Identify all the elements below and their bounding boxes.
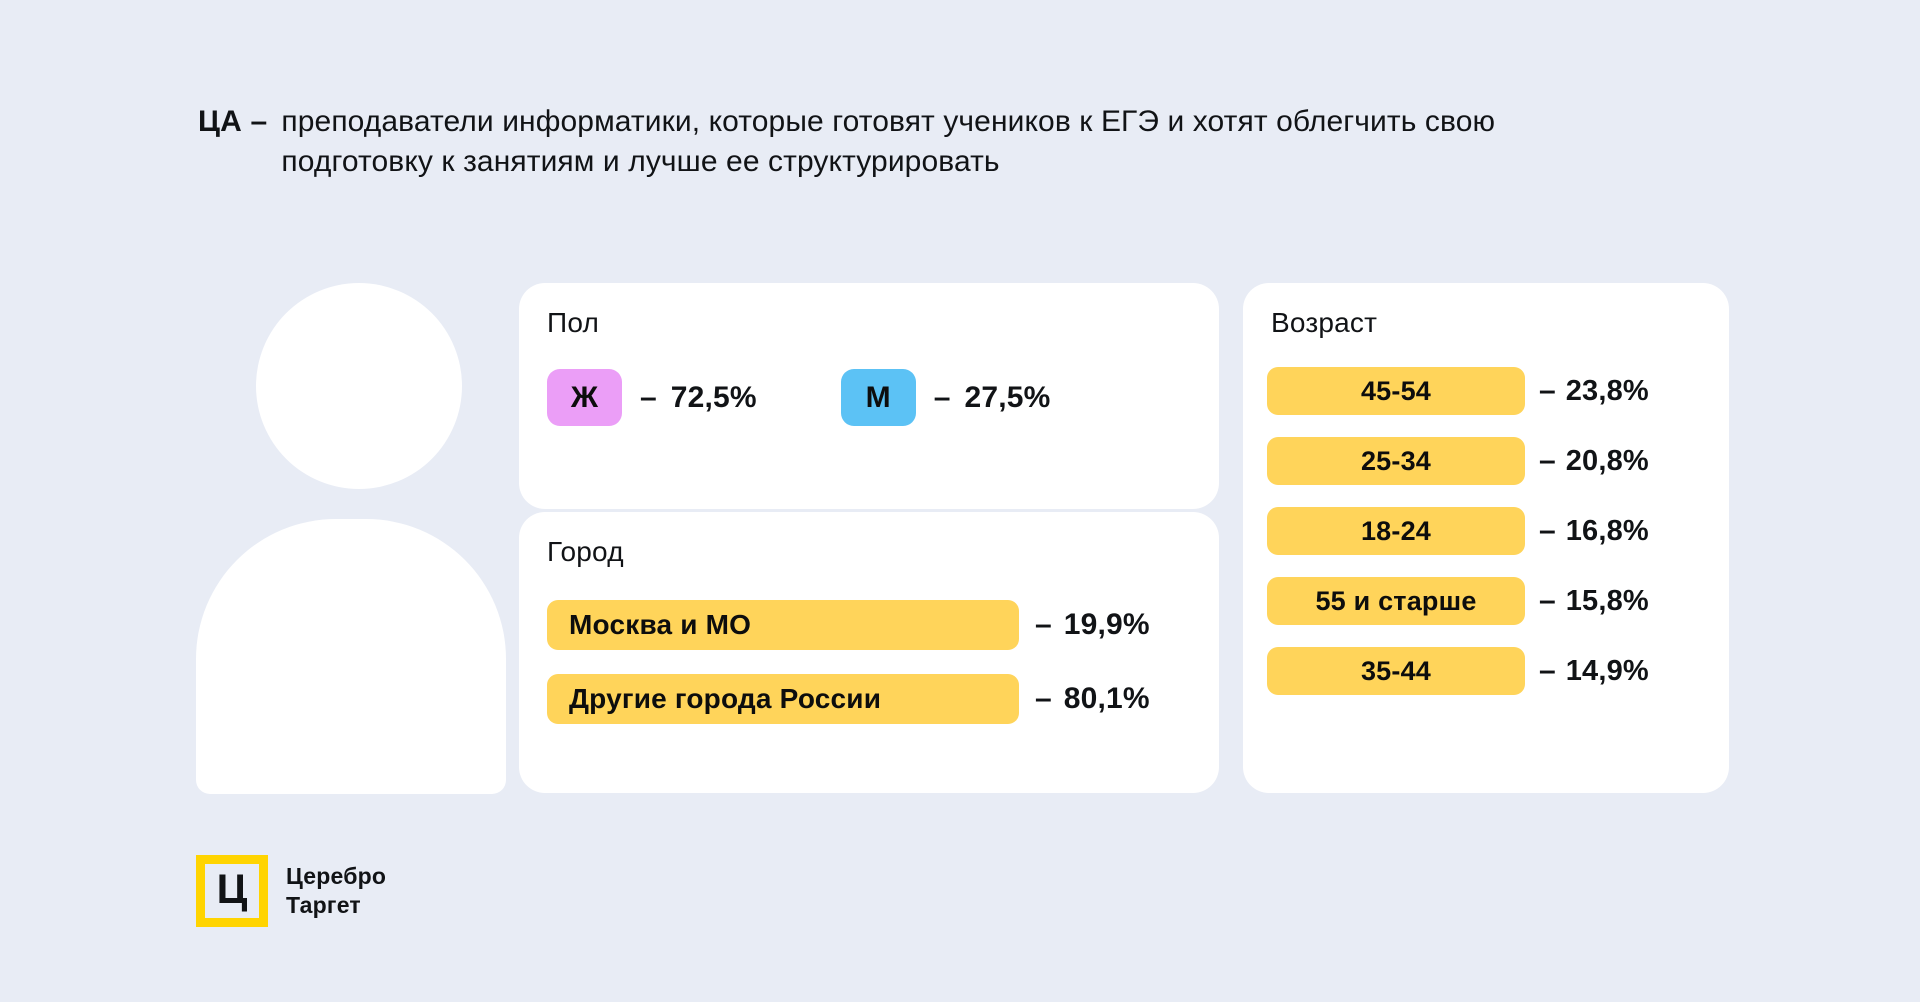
city-dash: –: [1019, 682, 1064, 716]
age-row: 45-54 – 23,8%: [1267, 367, 1649, 415]
age-dash: –: [1525, 374, 1566, 408]
age-badge: 25-34: [1267, 437, 1525, 485]
logo-frame-icon: Ц: [196, 855, 268, 927]
person-head-shape: [256, 283, 462, 489]
city-dash: –: [1019, 608, 1064, 642]
age-dash: –: [1525, 584, 1566, 618]
age-badge: 55 и старше: [1267, 577, 1525, 625]
city-badge: Москва и МО: [547, 600, 1019, 650]
age-value: 20,8%: [1566, 445, 1649, 478]
city-rows: Москва и МО – 19,9% Другие города России…: [547, 600, 1150, 724]
age-row: 25-34 – 20,8%: [1267, 437, 1649, 485]
person-silhouette-icon: [196, 283, 506, 793]
city-value: 80,1%: [1064, 682, 1150, 716]
age-row: 18-24 – 16,8%: [1267, 507, 1649, 555]
gender-value-female: 72,5%: [671, 381, 757, 415]
gender-rows: Ж – 72,5% М – 27,5%: [547, 369, 1051, 426]
age-value: 23,8%: [1566, 375, 1649, 408]
gender-card-title: Пол: [547, 307, 599, 339]
age-badge: 18-24: [1267, 507, 1525, 555]
age-card: Возраст 45-54 – 23,8% 25-34 – 20,8% 18-2…: [1243, 283, 1729, 793]
page-title: ЦА – преподаватели информатики, которые …: [198, 102, 1571, 182]
age-card-title: Возраст: [1271, 307, 1377, 339]
age-dash: –: [1525, 444, 1566, 478]
age-value: 15,8%: [1566, 585, 1649, 618]
gender-row-female: Ж – 72,5%: [547, 369, 757, 426]
gender-row-male: М – 27,5%: [841, 369, 1051, 426]
city-value: 19,9%: [1064, 608, 1150, 642]
age-row: 35-44 – 14,9%: [1267, 647, 1649, 695]
logo-text-line1: Церебро: [286, 862, 386, 891]
city-row: Другие города России – 80,1%: [547, 674, 1150, 724]
title-body: преподаватели информатики, которые готов…: [281, 102, 1571, 182]
person-body-shape: [196, 519, 506, 794]
gender-dash-female: –: [622, 381, 671, 415]
age-badge: 45-54: [1267, 367, 1525, 415]
gender-badge-male: М: [841, 369, 916, 426]
logo-text-line2: Таргет: [286, 891, 386, 920]
gender-value-male: 27,5%: [964, 381, 1050, 415]
age-rows: 45-54 – 23,8% 25-34 – 20,8% 18-24 – 16,8…: [1267, 367, 1649, 695]
logo-glyph: Ц: [217, 868, 248, 910]
age-dash: –: [1525, 514, 1566, 548]
age-dash: –: [1525, 654, 1566, 688]
gender-badge-female: Ж: [547, 369, 622, 426]
city-row: Москва и МО – 19,9%: [547, 600, 1150, 650]
gender-dash-male: –: [916, 381, 965, 415]
title-lead: ЦА –: [198, 102, 281, 142]
logo-text: Церебро Таргет: [286, 862, 386, 920]
age-value: 16,8%: [1566, 515, 1649, 548]
city-card-title: Город: [547, 536, 624, 568]
brand-logo: Ц Церебро Таргет: [196, 855, 386, 927]
age-badge: 35-44: [1267, 647, 1525, 695]
age-value: 14,9%: [1566, 655, 1649, 688]
age-row: 55 и старше – 15,8%: [1267, 577, 1649, 625]
gender-card: Пол Ж – 72,5% М – 27,5%: [519, 283, 1219, 509]
city-badge: Другие города России: [547, 674, 1019, 724]
city-card: Город Москва и МО – 19,9% Другие города …: [519, 512, 1219, 793]
